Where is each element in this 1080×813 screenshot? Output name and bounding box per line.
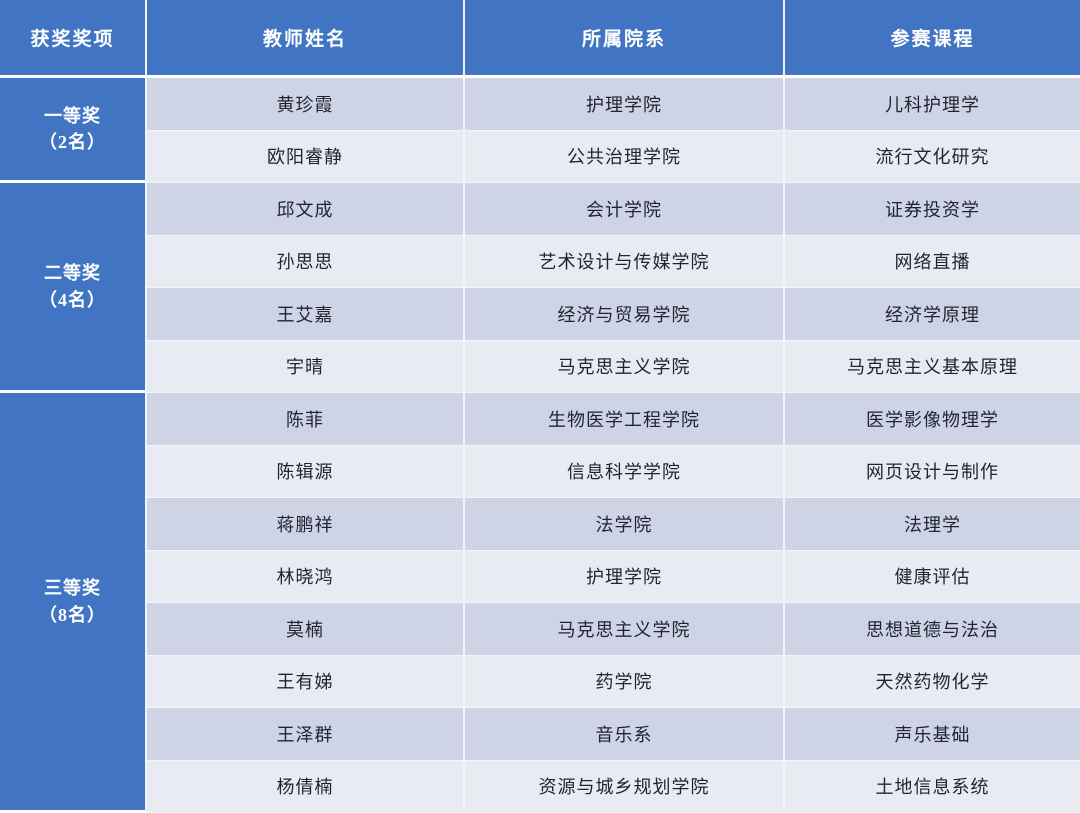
cell-course: 土地信息系统 — [785, 761, 1080, 813]
column-header-award: 获奖奖项 — [0, 0, 147, 78]
cell-teacher-name: 杨倩楠 — [147, 761, 465, 813]
cell-teacher-name: 邱文成 — [147, 183, 465, 236]
cell-course: 流行文化研究 — [785, 131, 1080, 184]
cell-department: 会计学院 — [465, 183, 785, 236]
cell-course: 网络直播 — [785, 236, 1080, 289]
cell-department: 经济与贸易学院 — [465, 288, 785, 341]
cell-teacher-name: 王泽群 — [147, 708, 465, 761]
award-group-cell: 二等奖（4名） — [0, 183, 147, 393]
cell-course: 思想道德与法治 — [785, 603, 1080, 656]
cell-course: 证券投资学 — [785, 183, 1080, 236]
column-header-department: 所属院系 — [465, 0, 785, 78]
cell-department: 马克思主义学院 — [465, 603, 785, 656]
cell-department: 公共治理学院 — [465, 131, 785, 184]
award-group-cell: 三等奖（8名） — [0, 393, 147, 813]
award-group-count: （4名） — [0, 287, 145, 313]
award-group-cell: 一等奖（2名） — [0, 78, 147, 183]
table-row: 王有娣药学院天然药物化学 — [0, 656, 1080, 709]
table-row: 王艾嘉经济与贸易学院经济学原理 — [0, 288, 1080, 341]
table-header: 获奖奖项 教师姓名 所属院系 参赛课程 — [0, 0, 1080, 78]
table-row: 林晓鸿护理学院健康评估 — [0, 551, 1080, 604]
cell-department: 马克思主义学院 — [465, 341, 785, 394]
table-row: 王泽群音乐系声乐基础 — [0, 708, 1080, 761]
cell-teacher-name: 宇晴 — [147, 341, 465, 394]
cell-teacher-name: 陈菲 — [147, 393, 465, 446]
cell-department: 资源与城乡规划学院 — [465, 761, 785, 813]
cell-teacher-name: 蒋鹏祥 — [147, 498, 465, 551]
table-row: 莫楠马克思主义学院思想道德与法治 — [0, 603, 1080, 656]
award-group-name: 二等奖 — [0, 260, 145, 286]
cell-teacher-name: 孙思思 — [147, 236, 465, 289]
cell-department: 法学院 — [465, 498, 785, 551]
cell-course: 经济学原理 — [785, 288, 1080, 341]
table-row: 蒋鹏祥法学院法理学 — [0, 498, 1080, 551]
table-row: 杨倩楠资源与城乡规划学院土地信息系统 — [0, 761, 1080, 813]
cell-course: 网页设计与制作 — [785, 446, 1080, 499]
cell-department: 信息科学学院 — [465, 446, 785, 499]
cell-department: 护理学院 — [465, 78, 785, 131]
award-group-count: （2名） — [0, 129, 145, 155]
award-group-count: （8名） — [0, 602, 145, 628]
cell-teacher-name: 林晓鸿 — [147, 551, 465, 604]
table-row: 二等奖（4名）邱文成会计学院证券投资学 — [0, 183, 1080, 236]
cell-department: 护理学院 — [465, 551, 785, 604]
table-row: 陈辑源信息科学学院网页设计与制作 — [0, 446, 1080, 499]
table-body: 一等奖（2名）黄珍霞护理学院儿科护理学欧阳睿静公共治理学院流行文化研究二等奖（4… — [0, 78, 1080, 813]
cell-department: 音乐系 — [465, 708, 785, 761]
cell-department: 药学院 — [465, 656, 785, 709]
award-group-name: 三等奖 — [0, 575, 145, 601]
cell-course: 天然药物化学 — [785, 656, 1080, 709]
cell-department: 艺术设计与传媒学院 — [465, 236, 785, 289]
cell-course: 声乐基础 — [785, 708, 1080, 761]
table-row: 孙思思艺术设计与传媒学院网络直播 — [0, 236, 1080, 289]
cell-teacher-name: 王艾嘉 — [147, 288, 465, 341]
cell-teacher-name: 莫楠 — [147, 603, 465, 656]
cell-teacher-name: 王有娣 — [147, 656, 465, 709]
cell-course: 健康评估 — [785, 551, 1080, 604]
cell-course: 马克思主义基本原理 — [785, 341, 1080, 394]
cell-course: 儿科护理学 — [785, 78, 1080, 131]
cell-teacher-name: 欧阳睿静 — [147, 131, 465, 184]
cell-course: 医学影像物理学 — [785, 393, 1080, 446]
cell-department: 生物医学工程学院 — [465, 393, 785, 446]
header-row: 获奖奖项 教师姓名 所属院系 参赛课程 — [0, 0, 1080, 78]
column-header-course: 参赛课程 — [785, 0, 1080, 78]
table-row: 三等奖（8名）陈菲生物医学工程学院医学影像物理学 — [0, 393, 1080, 446]
column-header-teacher-name: 教师姓名 — [147, 0, 465, 78]
cell-teacher-name: 陈辑源 — [147, 446, 465, 499]
table-row: 一等奖（2名）黄珍霞护理学院儿科护理学 — [0, 78, 1080, 131]
award-winners-table: 获奖奖项 教师姓名 所属院系 参赛课程 一等奖（2名）黄珍霞护理学院儿科护理学欧… — [0, 0, 1080, 813]
award-group-name: 一等奖 — [0, 103, 145, 129]
cell-course: 法理学 — [785, 498, 1080, 551]
table-row: 宇晴马克思主义学院马克思主义基本原理 — [0, 341, 1080, 394]
cell-teacher-name: 黄珍霞 — [147, 78, 465, 131]
table-row: 欧阳睿静公共治理学院流行文化研究 — [0, 131, 1080, 184]
